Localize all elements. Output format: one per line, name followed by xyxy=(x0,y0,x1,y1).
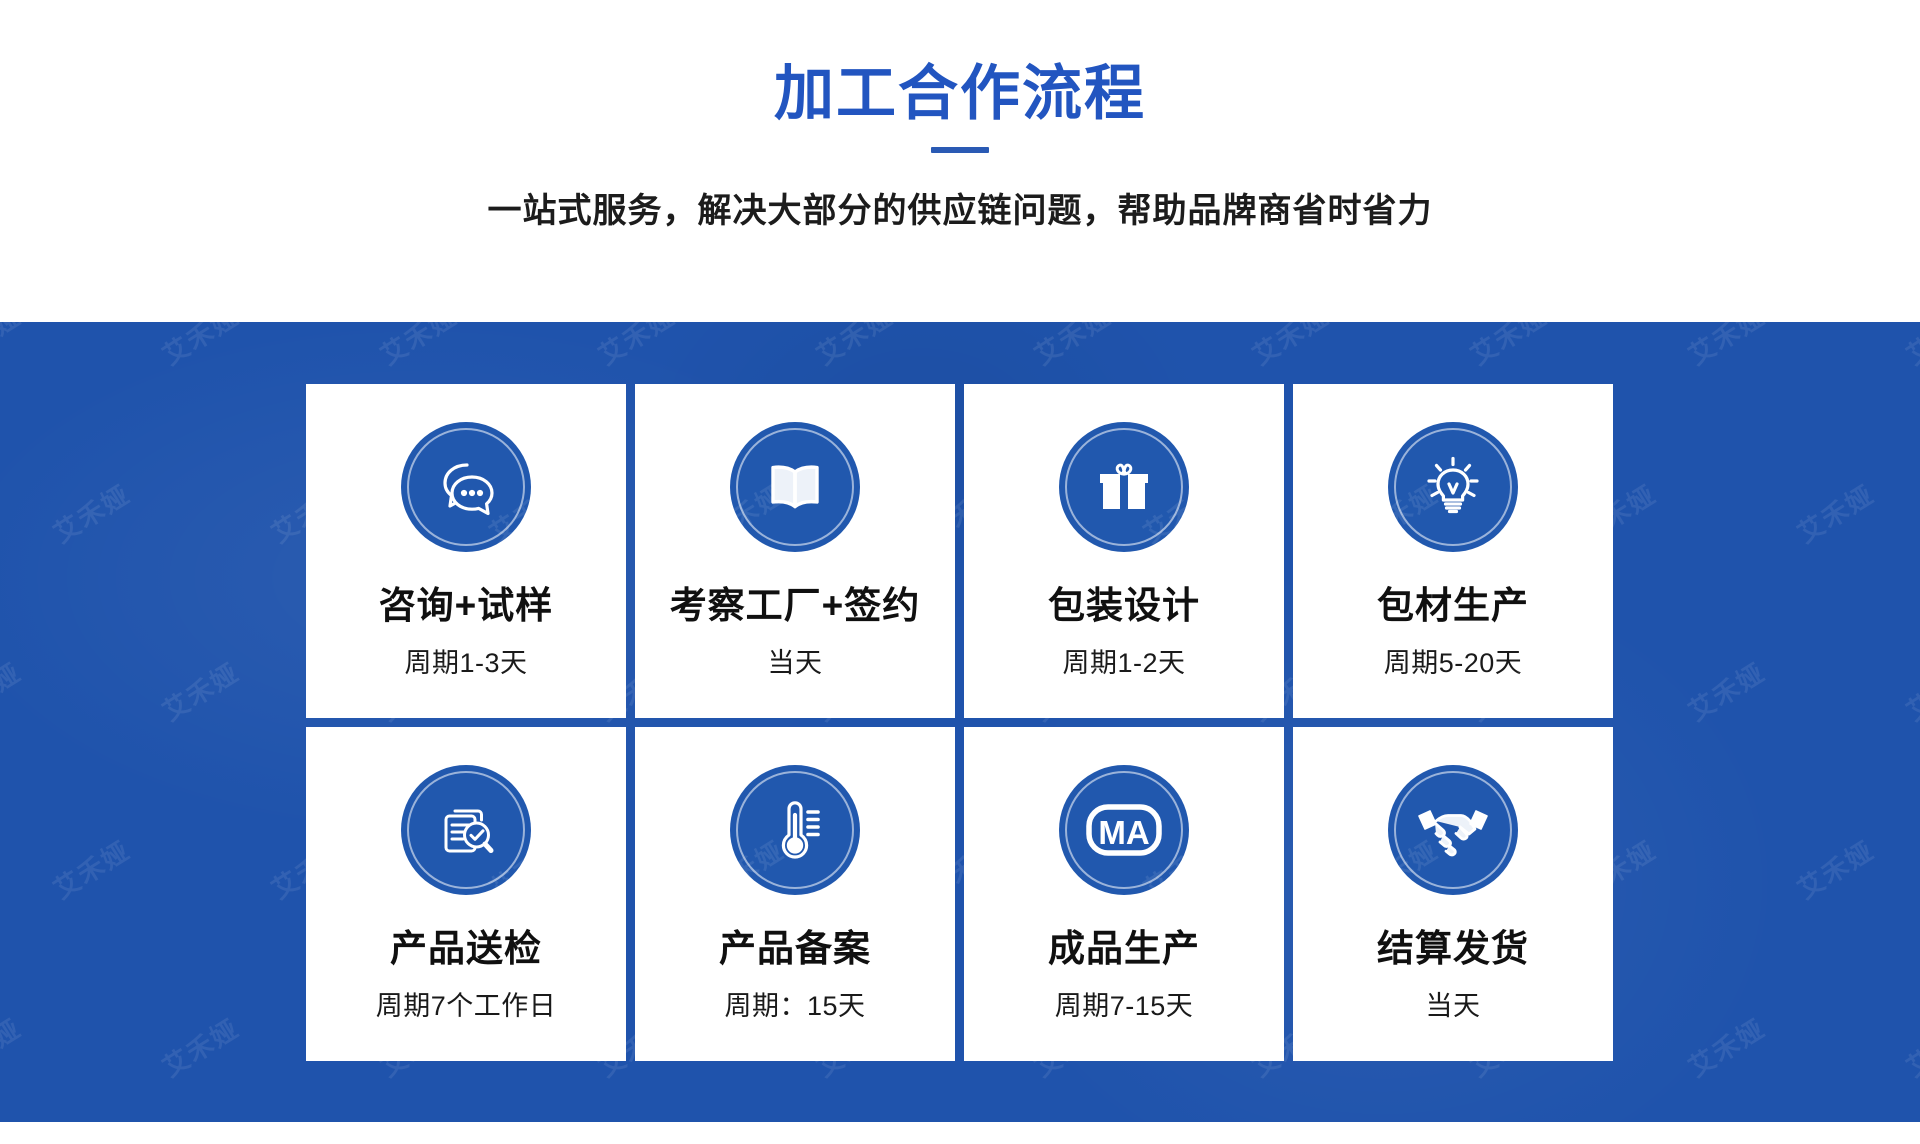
lightbulb-icon xyxy=(1388,422,1518,552)
process-card[interactable]: 产品送检 周期7个工作日 xyxy=(306,727,626,1061)
page-subtitle: 一站式服务，解决大部分的供应链问题，帮助品牌商省时省力 xyxy=(0,183,1920,232)
process-card-duration: 周期：15天 xyxy=(724,984,865,1023)
svg-text:MA: MA xyxy=(1098,814,1149,851)
chat-bubbles-icon xyxy=(401,422,531,552)
process-card-duration: 周期1-2天 xyxy=(1062,641,1185,680)
process-card-duration: 当天 xyxy=(1426,984,1481,1023)
page-header: 加工合作流程 一站式服务，解决大部分的供应链问题，帮助品牌商省时省力 xyxy=(0,0,1920,322)
process-card-title: 成品生产 xyxy=(1048,929,1200,970)
process-card-title: 产品备案 xyxy=(719,929,871,970)
process-card-title: 包材生产 xyxy=(1377,586,1529,627)
process-card-duration: 周期5-20天 xyxy=(1384,641,1523,680)
bottom-spacer xyxy=(0,1122,1920,1144)
process-card-duration: 周期7个工作日 xyxy=(376,984,557,1023)
process-card-title: 咨询+试样 xyxy=(379,586,554,627)
process-card-title: 考察工厂+签约 xyxy=(670,586,921,627)
process-card[interactable]: 考察工厂+签约 当天 xyxy=(635,384,955,718)
process-section: 咨询+试样 周期1-3天 考察工厂+签约 当天 xyxy=(0,322,1920,1122)
process-card[interactable]: 咨询+试样 周期1-3天 xyxy=(306,384,626,718)
cma-mark-icon: MA xyxy=(1059,765,1189,895)
process-card[interactable]: MA 成品生产 周期7-15天 xyxy=(964,727,1284,1061)
handshake-icon xyxy=(1388,765,1518,895)
process-card[interactable]: 包装设计 周期1-2天 xyxy=(964,384,1284,718)
process-card-title: 产品送检 xyxy=(390,929,542,970)
page-title: 加工合作流程 xyxy=(0,62,1920,125)
open-book-icon xyxy=(730,422,860,552)
process-card-grid: 咨询+试样 周期1-3天 考察工厂+签约 当天 xyxy=(306,384,1614,1061)
thermometer-icon xyxy=(730,765,860,895)
process-card[interactable]: 产品备案 周期：15天 xyxy=(635,727,955,1061)
gift-box-icon xyxy=(1059,422,1189,552)
process-card-title: 包装设计 xyxy=(1048,586,1200,627)
process-card-duration: 当天 xyxy=(768,641,823,680)
process-card-duration: 周期1-3天 xyxy=(404,641,527,680)
process-card-title: 结算发货 xyxy=(1377,929,1529,970)
title-divider xyxy=(931,147,989,153)
process-card[interactable]: 包材生产 周期5-20天 xyxy=(1293,384,1613,718)
process-card-duration: 周期7-15天 xyxy=(1055,984,1194,1023)
process-card[interactable]: 结算发货 当天 xyxy=(1293,727,1613,1061)
clipboard-search-icon xyxy=(401,765,531,895)
